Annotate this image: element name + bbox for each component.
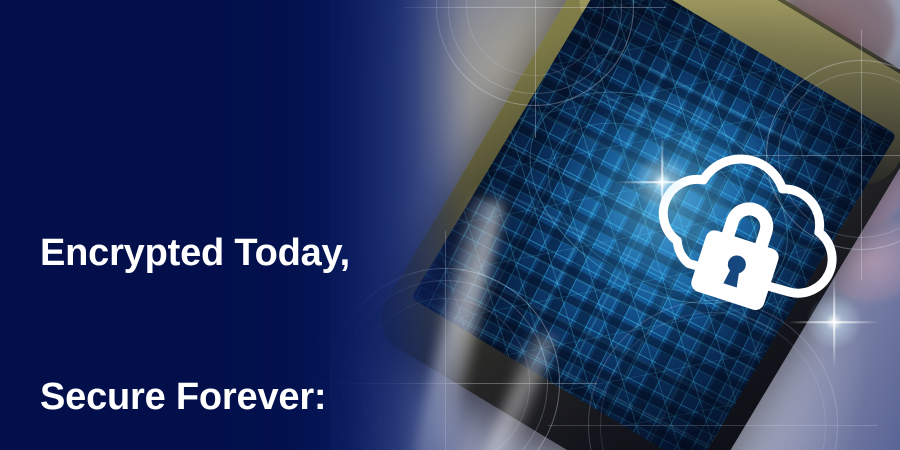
cloud-lock-icon	[622, 148, 854, 348]
headline-line-1: Encrypted Today,	[40, 229, 440, 277]
encryption-banner: Encrypted Today, Secure Forever: Guard Y…	[0, 0, 900, 450]
headline-line-2: Secure Forever:	[40, 373, 440, 421]
page-title: Encrypted Today, Secure Forever: Guard Y…	[40, 133, 440, 450]
